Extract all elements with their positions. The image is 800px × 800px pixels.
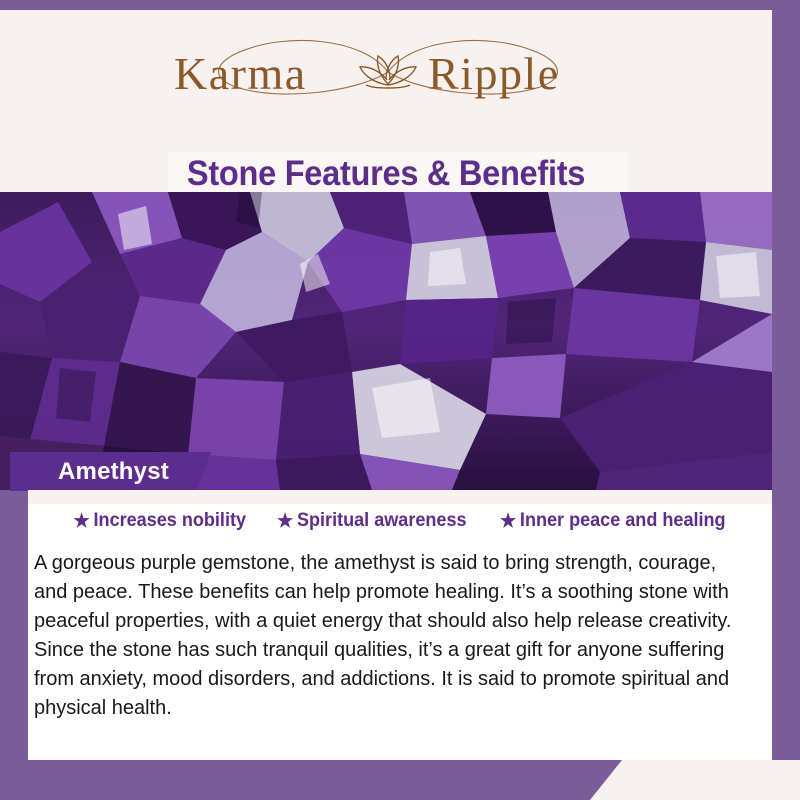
benefit-item: ★ Increases nobility	[73, 510, 245, 532]
hero-image	[0, 192, 772, 490]
star-icon: ★	[277, 512, 293, 531]
frame-band-left	[0, 490, 28, 800]
star-icon: ★	[500, 512, 516, 531]
brand-logo-artwork: Karma Ripple	[166, 29, 606, 115]
frame-corner-notch	[590, 760, 800, 800]
stone-description: A gorgeous purple gemstone, the amethyst…	[34, 548, 752, 722]
header-panel: Karma Ripple Stone Features & Benefits	[0, 10, 772, 192]
benefit-item: ★ Inner peace and healing	[500, 510, 726, 532]
star-icon: ★	[73, 512, 89, 531]
brand-name-right: Ripple	[428, 48, 560, 99]
benefit-item: ★ Spiritual awareness	[277, 510, 467, 532]
benefits-list: ★ Increases nobility ★ Spiritual awarene…	[28, 510, 772, 532]
benefit-label: Increases nobility	[93, 510, 245, 532]
content-top-strip	[28, 490, 772, 504]
stone-name-banner: Amethyst	[10, 452, 211, 491]
frame-band-right	[772, 0, 800, 800]
brand-logo: Karma Ripple	[0, 28, 772, 116]
stone-name-label: Amethyst	[58, 458, 169, 486]
benefit-label: Inner peace and healing	[520, 510, 726, 532]
benefit-label: Spiritual awareness	[297, 510, 467, 532]
amethyst-crystal-cluster-icon	[0, 192, 772, 490]
infographic-canvas: Karma Ripple Stone Features & Benefits	[0, 0, 800, 800]
content-panel: ★ Increases nobility ★ Spiritual awarene…	[28, 490, 772, 760]
brand-name-left: Karma	[174, 48, 307, 99]
